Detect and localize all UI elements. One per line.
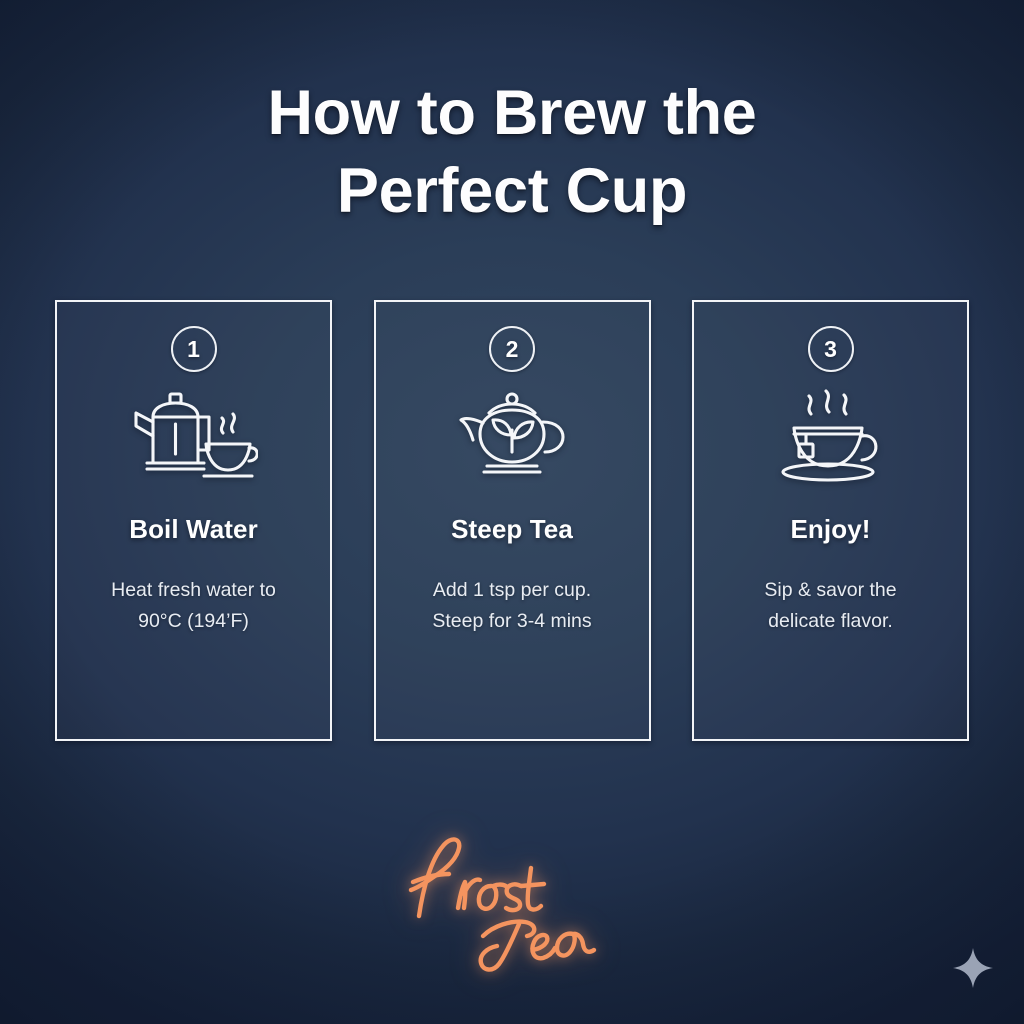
teacup-with-teabag-icon — [694, 384, 967, 488]
step-card-1: 1 — [55, 300, 332, 741]
page-title: How to Brew the Perfect Cup — [0, 74, 1024, 230]
steps-container: 1 — [55, 300, 969, 741]
title-line-1: How to Brew the — [0, 74, 1024, 152]
poster-canvas: How to Brew the Perfect Cup 1 — [0, 0, 1024, 1024]
step-description-3: Sip & savor the delicate flavor. — [750, 575, 910, 637]
kettle-and-cup-icon — [57, 384, 330, 488]
step-number-badge-2: 2 — [489, 326, 535, 372]
step-card-3: 3 — [692, 300, 969, 741]
step-number-badge-1: 1 — [171, 326, 217, 372]
teapot-with-leaves-icon — [376, 384, 649, 488]
title-line-2: Perfect Cup — [0, 152, 1024, 230]
step-title-1: Boil Water — [129, 514, 258, 545]
step-title-3: Enjoy! — [790, 514, 870, 545]
step-description-2: Add 1 tsp per cup. Steep for 3-4 mins — [418, 575, 605, 637]
step-desc-line-2a: Add 1 tsp per cup. — [432, 575, 591, 606]
step-desc-line-1b: 90°C (194’F) — [111, 606, 276, 637]
step-number-badge-3: 3 — [808, 326, 854, 372]
four-point-star-icon — [952, 947, 994, 994]
step-desc-line-3a: Sip & savor the — [764, 575, 896, 606]
step-title-2: Steep Tea — [451, 514, 573, 545]
step-desc-line-1a: Heat fresh water to — [111, 575, 276, 606]
step-desc-line-2b: Steep for 3-4 mins — [432, 606, 591, 637]
step-description-1: Heat fresh water to 90°C (194’F) — [97, 575, 290, 637]
step-card-2: 2 — [374, 300, 651, 741]
step-desc-line-3b: delicate flavor. — [764, 606, 896, 637]
brand-logo — [0, 824, 1024, 979]
